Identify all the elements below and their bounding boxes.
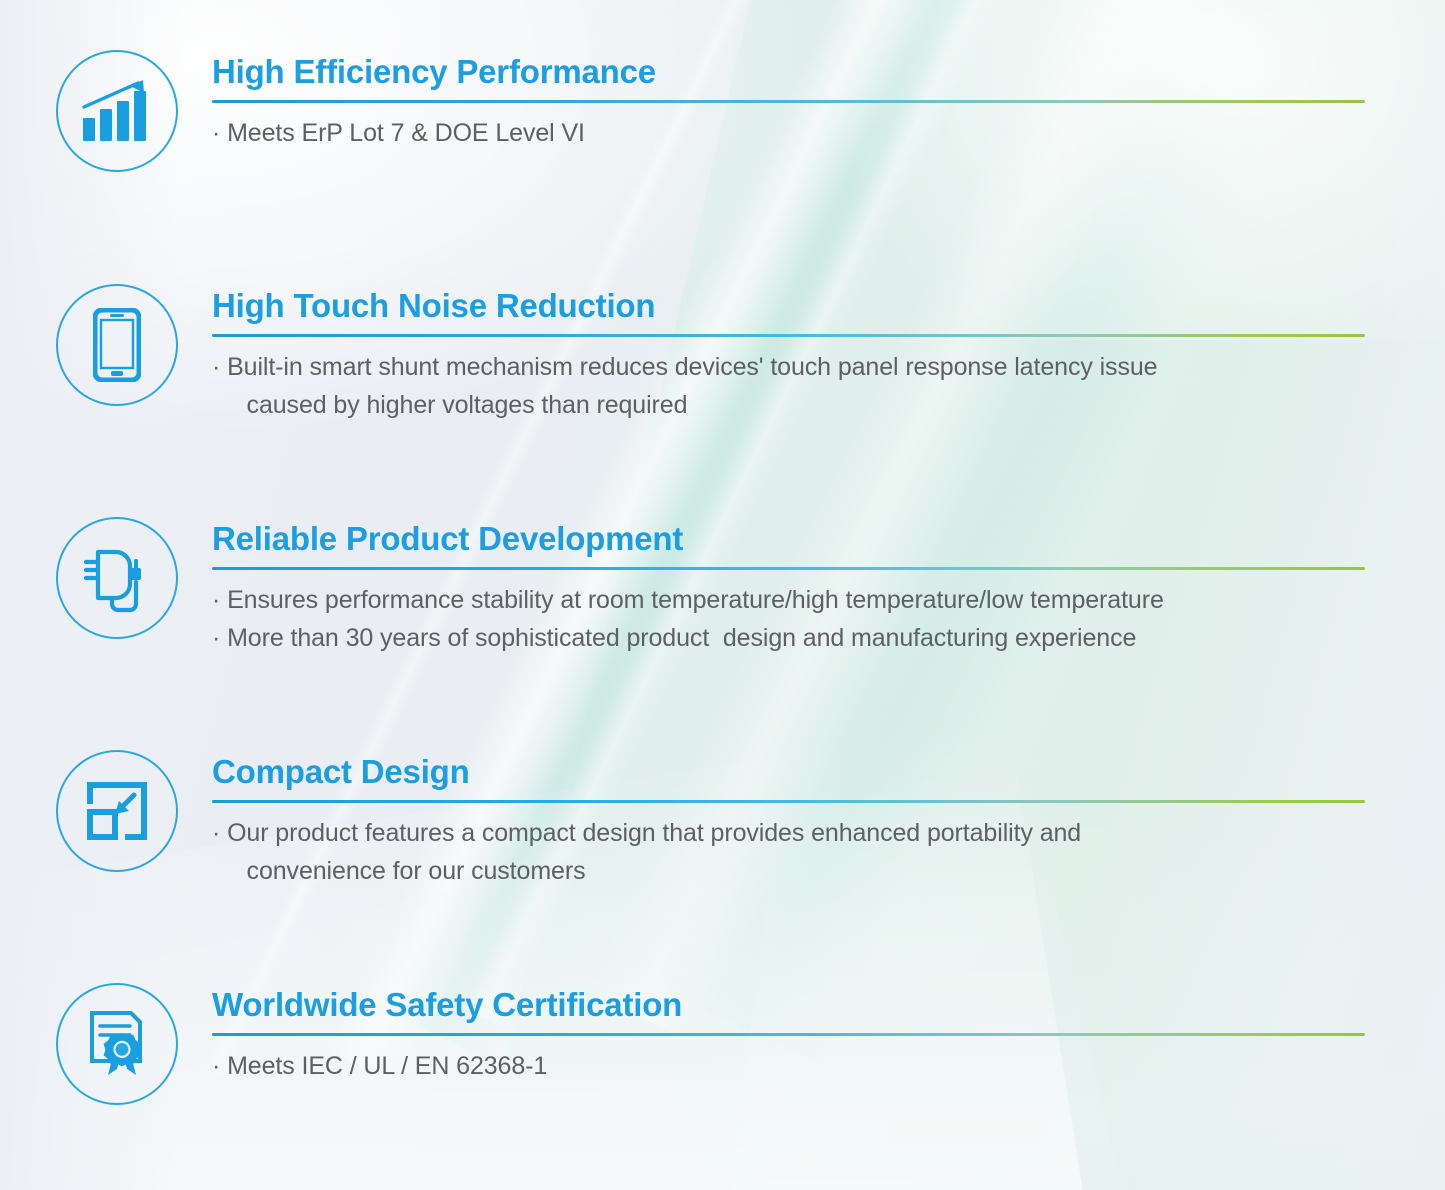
feature-item-high-touch-noise-reduction: High Touch Noise Reduction · Built-in sm… bbox=[56, 284, 1365, 424]
compact-resize-icon bbox=[84, 780, 150, 842]
feature-list: High Efficiency Performance · Meets ErP … bbox=[0, 0, 1445, 1190]
feature-bullet: · Meets IEC / UL / EN 62368-1 bbox=[212, 1047, 1365, 1085]
feature-item-high-efficiency-performance: High Efficiency Performance · Meets ErP … bbox=[56, 50, 1365, 172]
feature-icon-badge bbox=[56, 983, 178, 1105]
feature-body: High Touch Noise Reduction · Built-in sm… bbox=[212, 284, 1365, 424]
feature-item-compact-design: Compact Design · Our product features a … bbox=[56, 750, 1365, 890]
feature-bullets: · Ensures performance stability at room … bbox=[212, 581, 1365, 657]
feature-icon-badge bbox=[56, 50, 178, 172]
feature-title: Worldwide Safety Certification bbox=[212, 987, 1365, 1023]
feature-bullet: · Meets ErP Lot 7 & DOE Level VI bbox=[212, 114, 1365, 152]
feature-title: Compact Design bbox=[212, 754, 1365, 790]
feature-icon-badge bbox=[56, 517, 178, 639]
feature-body: High Efficiency Performance · Meets ErP … bbox=[212, 50, 1365, 152]
feature-divider bbox=[212, 334, 1365, 337]
feature-bullets: · Built-in smart shunt mechanism reduces… bbox=[212, 348, 1365, 424]
feature-divider bbox=[212, 800, 1365, 803]
feature-icon-badge bbox=[56, 750, 178, 872]
feature-bullet: · More than 30 years of sophisticated pr… bbox=[212, 619, 1365, 657]
smartphone-icon bbox=[93, 308, 141, 382]
feature-body: Worldwide Safety Certification · Meets I… bbox=[212, 983, 1365, 1085]
feature-icon-badge bbox=[56, 284, 178, 406]
bar-chart-growth-icon bbox=[81, 78, 153, 144]
certificate-award-icon bbox=[84, 1009, 150, 1079]
power-adapter-icon bbox=[76, 542, 158, 614]
feature-divider bbox=[212, 100, 1365, 103]
feature-body: Reliable Product Development · Ensures p… bbox=[212, 517, 1365, 657]
feature-item-reliable-product-development: Reliable Product Development · Ensures p… bbox=[56, 517, 1365, 657]
feature-bullet: · Built-in smart shunt mechanism reduces… bbox=[212, 348, 1365, 424]
feature-bullets: · Meets ErP Lot 7 & DOE Level VI bbox=[212, 114, 1365, 152]
feature-bullets: · Meets IEC / UL / EN 62368-1 bbox=[212, 1047, 1365, 1085]
feature-title: High Efficiency Performance bbox=[212, 54, 1365, 90]
feature-title: Reliable Product Development bbox=[212, 521, 1365, 557]
feature-bullet: · Ensures performance stability at room … bbox=[212, 581, 1365, 619]
feature-item-worldwide-safety-certification: Worldwide Safety Certification · Meets I… bbox=[56, 983, 1365, 1105]
feature-divider bbox=[212, 567, 1365, 570]
feature-bullets: · Our product features a compact design … bbox=[212, 814, 1365, 890]
feature-title: High Touch Noise Reduction bbox=[212, 288, 1365, 324]
feature-divider bbox=[212, 1033, 1365, 1036]
feature-body: Compact Design · Our product features a … bbox=[212, 750, 1365, 890]
feature-bullet: · Our product features a compact design … bbox=[212, 814, 1365, 890]
